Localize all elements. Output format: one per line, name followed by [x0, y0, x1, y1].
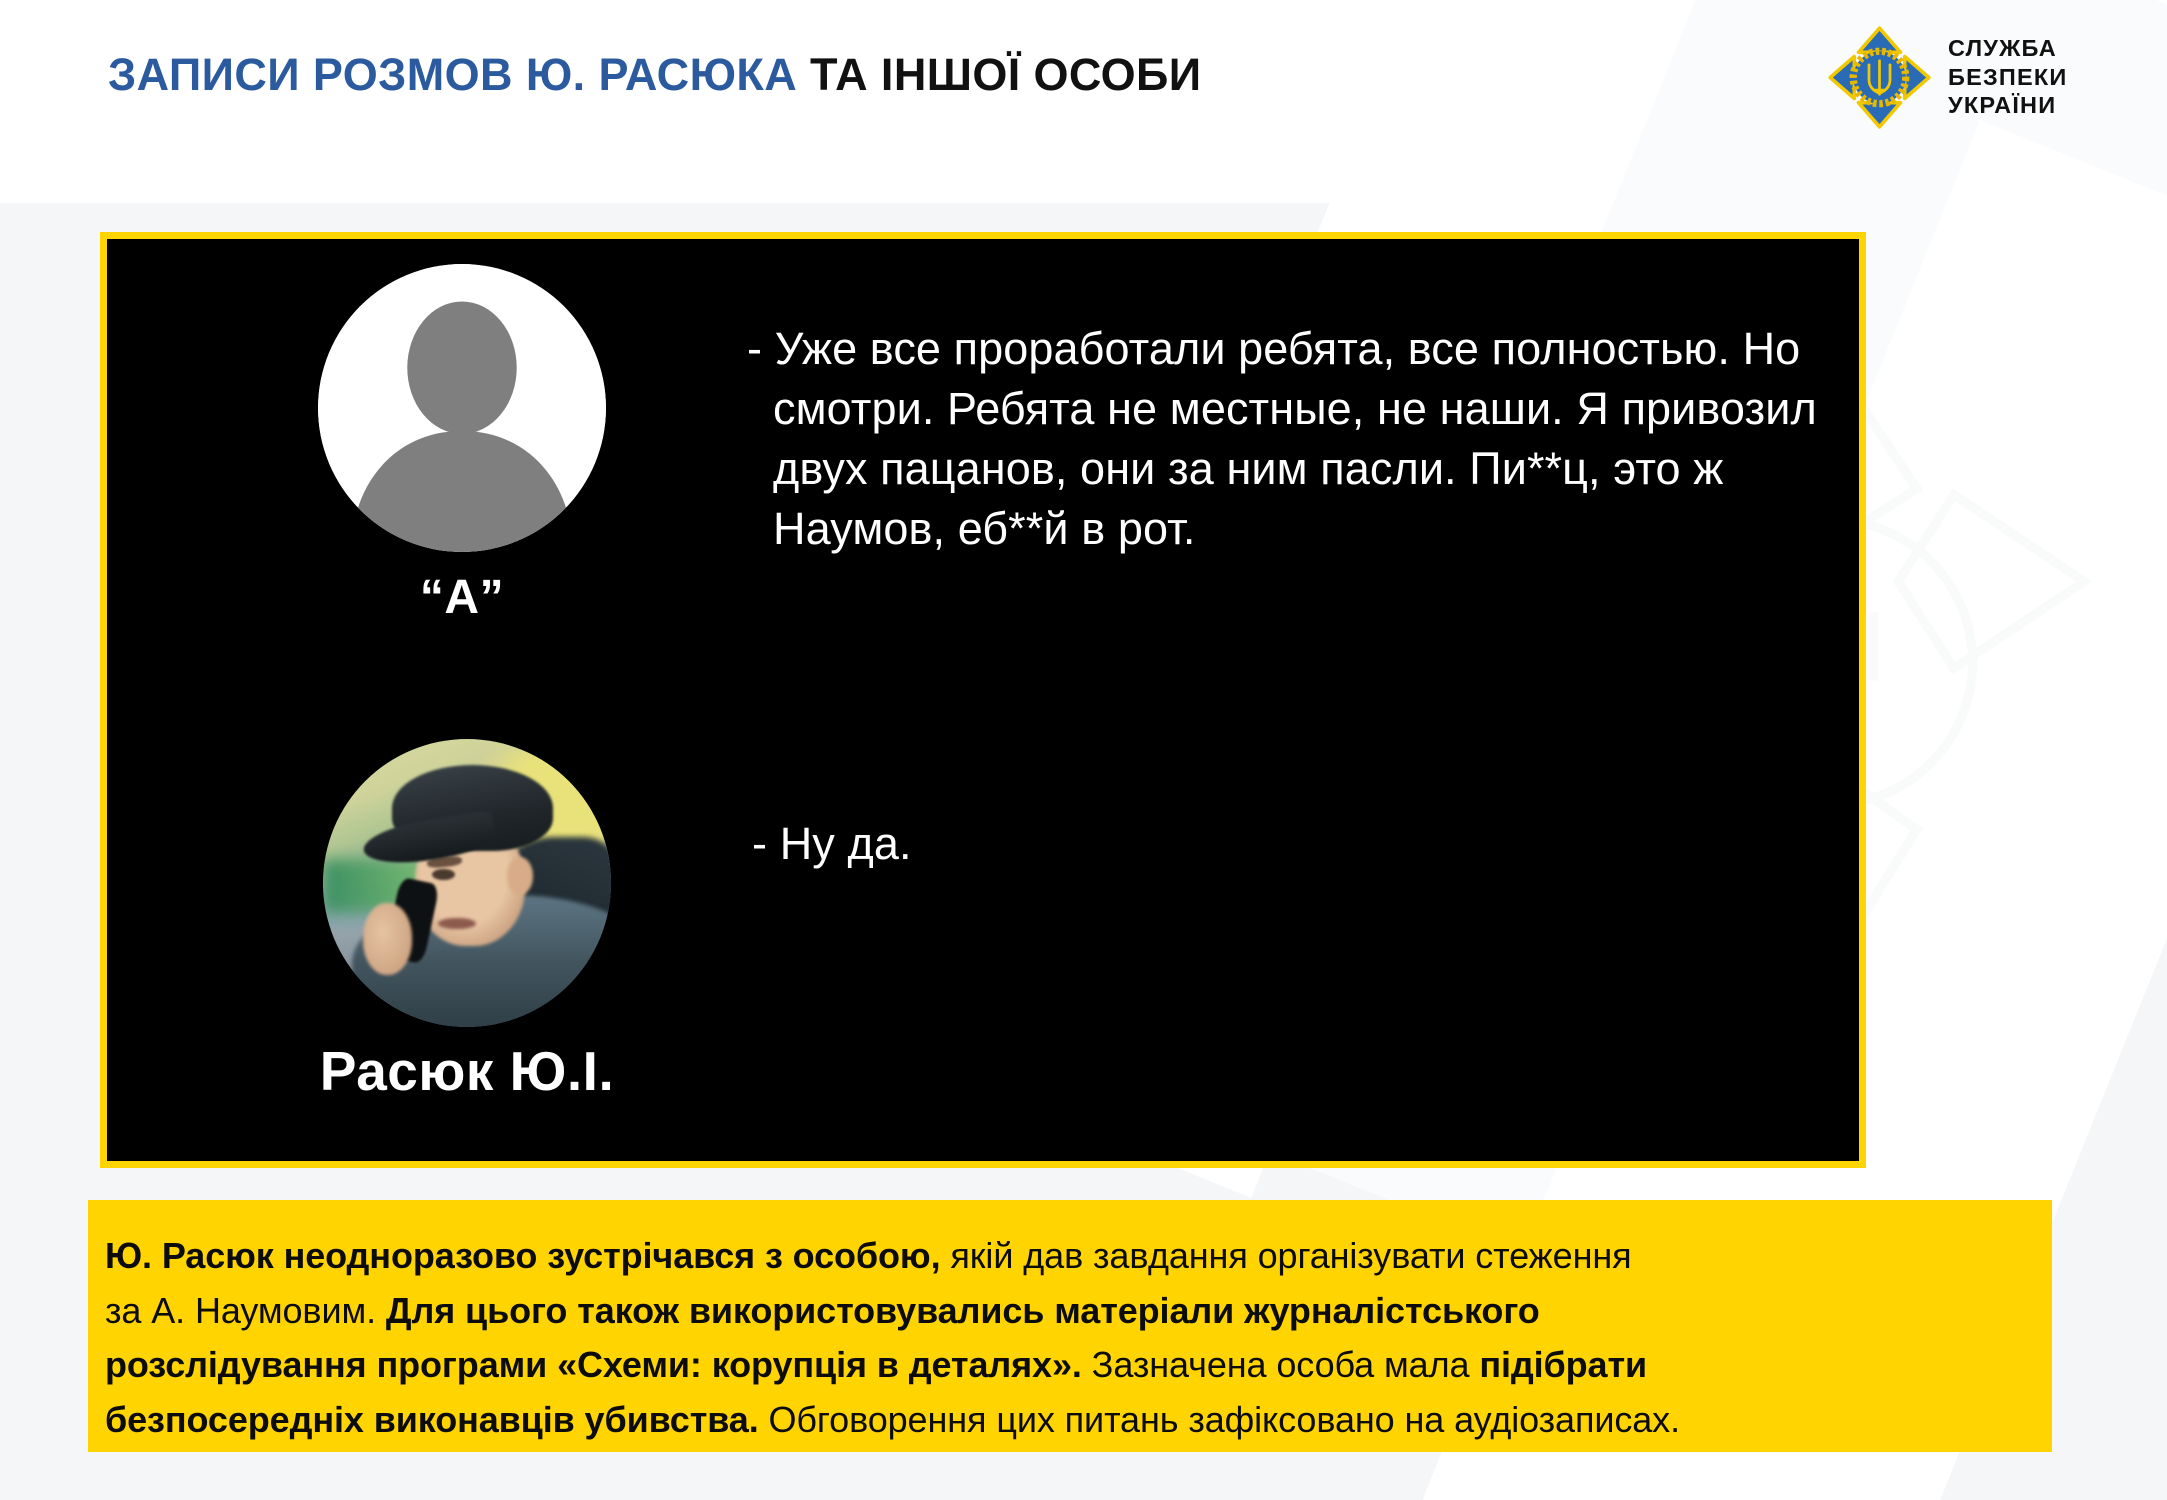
speaker-a-block: “А” — [252, 264, 672, 625]
page-title-rest: ТА ІНШОЇ ОСОБИ — [797, 49, 1201, 100]
caption-line: Ю. Расюк неодноразово зустрічався з особ… — [105, 1229, 2022, 1284]
speaker-b-block: Расюк Ю.І. — [257, 739, 677, 1103]
speaker-b-label: Расюк Ю.І. — [257, 1039, 677, 1103]
speaker-a-line: - Уже все проработали ребята, все полнос… — [747, 319, 1863, 558]
speaker-b-line: - Ну да. — [752, 814, 1552, 874]
speaker-b-avatar — [323, 739, 611, 1027]
sbu-logo: СЛУЖБА БЕЗПЕКИ УКРАЇНИ — [1827, 22, 2127, 132]
speaker-a-avatar — [318, 264, 606, 552]
speaker-a-label: “А” — [252, 570, 672, 625]
page-title: ЗАПИСИ РОЗМОВ Ю. РАСЮКА ТА ІНШОЇ ОСОБИ — [108, 48, 1202, 102]
sbu-logo-line-2: БЕЗПЕКИ — [1948, 63, 2068, 92]
slide-header: ЗАПИСИ РОЗМОВ Ю. РАСЮКА ТА ІНШОЇ ОСОБИ — [0, 0, 2167, 203]
transcript-panel: “А” - Уже все проработали ребята, все по… — [100, 232, 1866, 1168]
sbu-logo-line-1: СЛУЖБА — [1948, 34, 2068, 63]
person-silhouette-icon — [318, 264, 606, 552]
caption-line: розслідування програми «Схеми: корупція … — [105, 1338, 2022, 1393]
sbu-emblem-icon — [1827, 25, 1932, 130]
slide-root: ЗАПИСИ РОЗМОВ Ю. РАСЮКА ТА ІНШОЇ ОСОБИ — [0, 0, 2167, 1500]
caption-box: Ю. Расюк неодноразово зустрічався з особ… — [88, 1200, 2052, 1452]
photo-ear — [507, 857, 533, 894]
caption-line: за А. Наумовим. Для цього також використ… — [105, 1284, 2022, 1339]
photo-mouth — [438, 918, 475, 930]
page-title-highlight: ЗАПИСИ РОЗМОВ Ю. РАСЮКА — [108, 49, 797, 100]
sbu-logo-text: СЛУЖБА БЕЗПЕКИ УКРАЇНИ — [1948, 34, 2068, 120]
caption-line: безпосередніх виконавців убивства. Обгов… — [105, 1393, 2022, 1448]
photo-hand — [363, 903, 412, 975]
sbu-logo-line-3: УКРАЇНИ — [1948, 91, 2068, 120]
